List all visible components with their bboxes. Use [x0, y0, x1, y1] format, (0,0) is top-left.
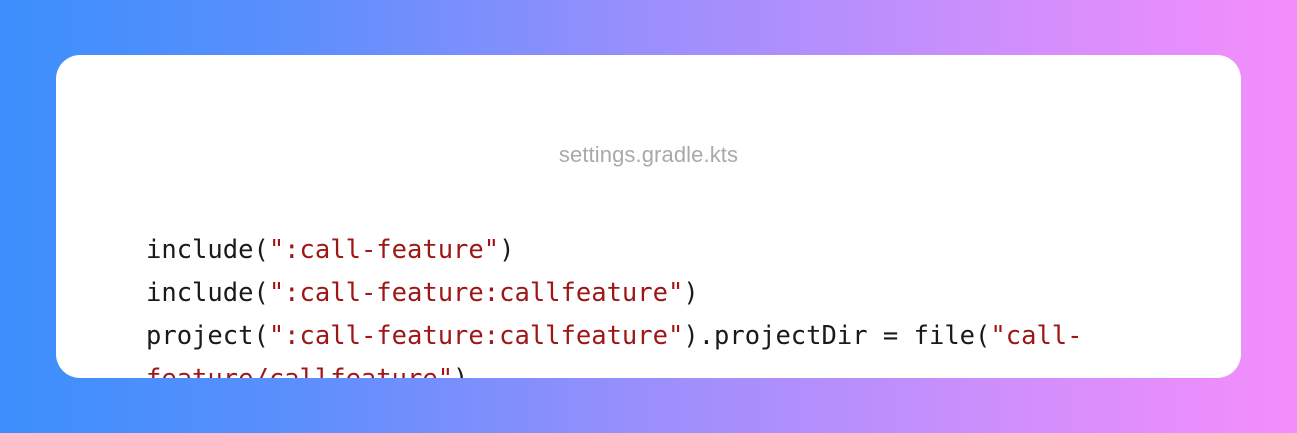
- code-card: settings.gradle.kts include(":call-featu…: [56, 55, 1241, 378]
- code-plain-token: ): [453, 364, 468, 378]
- code-plain-token: ).projectDir = file(: [683, 321, 990, 351]
- code-plain-token: include(: [146, 235, 269, 265]
- code-line: project(":call-feature:callfeature").pro…: [146, 315, 1187, 378]
- file-name-title: settings.gradle.kts: [56, 141, 1241, 169]
- code-plain-token: project(: [146, 321, 269, 351]
- code-line: include(":call-feature:callfeature"): [146, 272, 1187, 315]
- code-plain-token: ): [499, 235, 514, 265]
- gradient-background: settings.gradle.kts include(":call-featu…: [0, 0, 1297, 433]
- code-block: include(":call-feature")include(":call-f…: [146, 229, 1187, 378]
- code-string-token: ":call-feature:callfeature": [269, 321, 684, 351]
- code-plain-token: include(: [146, 278, 269, 308]
- code-line: include(":call-feature"): [146, 229, 1187, 272]
- code-plain-token: ): [683, 278, 698, 308]
- code-string-token: ":call-feature:callfeature": [269, 278, 684, 308]
- code-string-token: ":call-feature": [269, 235, 499, 265]
